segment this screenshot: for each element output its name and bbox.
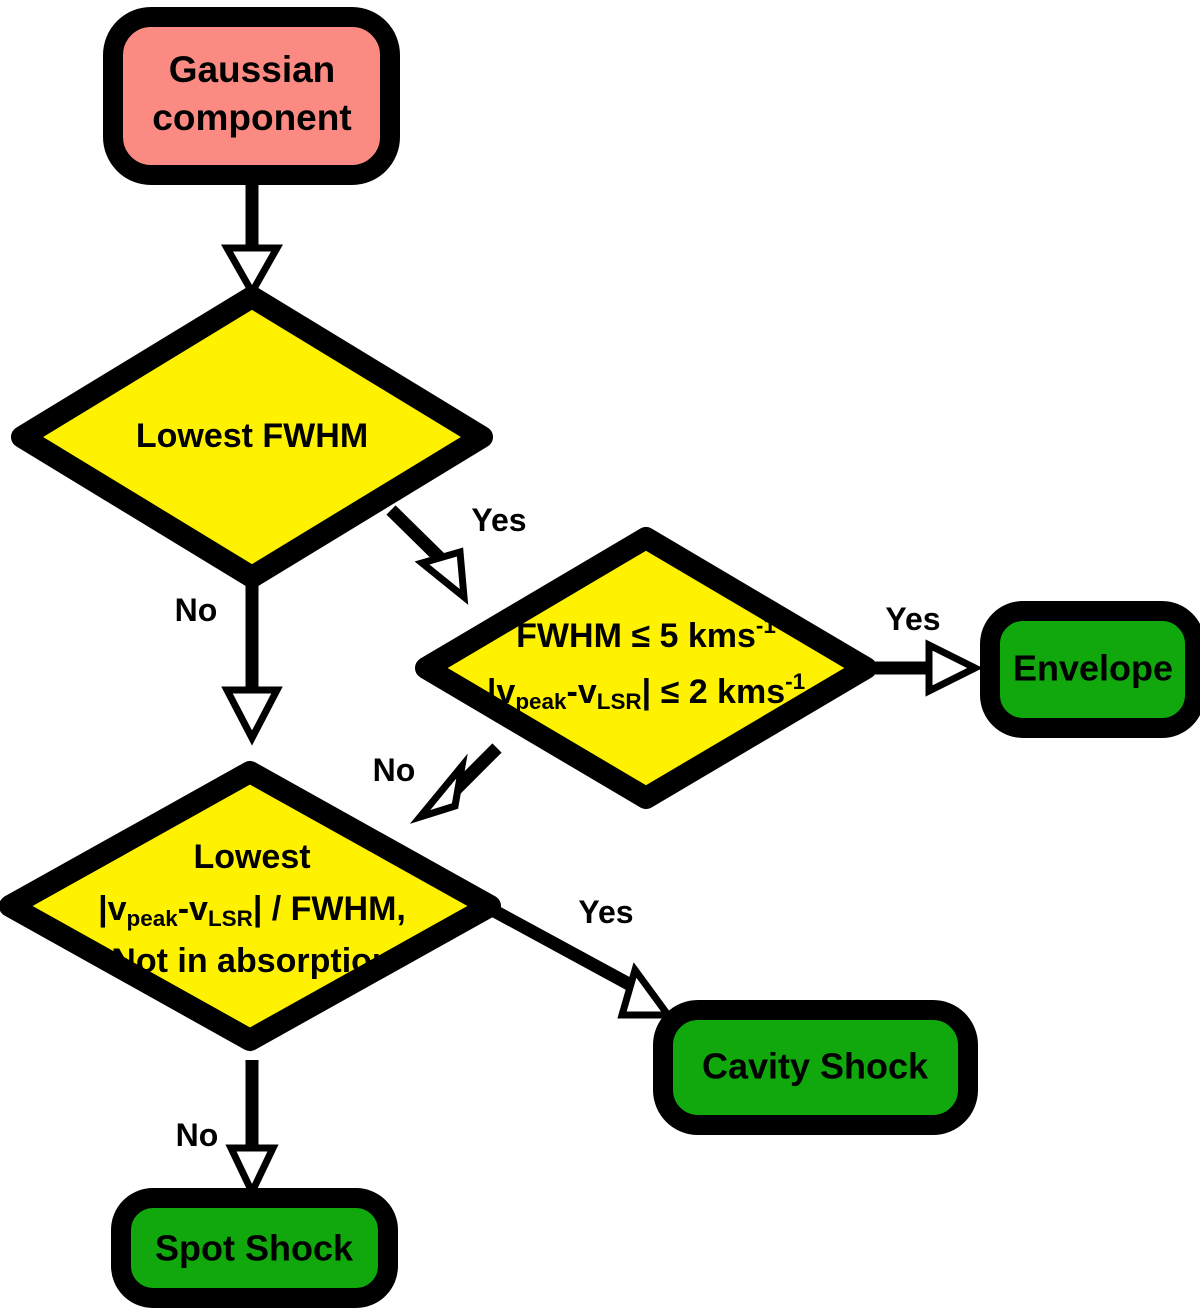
flowchart-canvas: Yes No Yes No Yes No [0, 0, 1200, 1311]
subscript-lsr: LSR [208, 906, 253, 931]
edge-lowest-fwhm-no: No [175, 578, 277, 738]
fwhm-text: FWHM [516, 617, 631, 655]
subscript-peak: peak [127, 906, 179, 931]
flowchart-svg: Yes No Yes No Yes No [0, 0, 1200, 1311]
arrowhead-down-left-icon [420, 766, 462, 817]
arrowhead-down-icon [231, 1148, 273, 1192]
node-label-spot-shock: Spot Shock [155, 1228, 354, 1269]
leq-operator: ≤ [661, 673, 680, 711]
edge-label-lowest-ratio-yes: Yes [578, 894, 633, 930]
node-envelope[interactable]: Envelope [990, 611, 1195, 728]
abs-open: |v [487, 673, 516, 711]
value-units: 2 kms [679, 673, 785, 711]
arrowhead-right-icon [929, 645, 975, 691]
edge-label-fwhm-limits-yes: Yes [885, 601, 940, 637]
node-label-lowest-ratio-line3: Not in absorption [111, 942, 392, 980]
arrowhead-down-right-icon [422, 552, 464, 597]
node-gaussian-component[interactable]: Gaussian component [113, 17, 390, 175]
edge-lowest-fwhm-yes: Yes [391, 502, 527, 597]
edge-lowest-ratio-no: No [176, 1060, 273, 1192]
arrowhead-down-icon [227, 690, 277, 738]
minus-v: -v [567, 673, 597, 711]
node-cavity-shock[interactable]: Cavity Shock [663, 1010, 968, 1125]
edge-label-lowest-fwhm-yes: Yes [471, 502, 526, 538]
node-lowest-ratio-not-absorption[interactable]: Lowest |vpeak-vLSR| / FWHM, Not in absor… [10, 772, 490, 1040]
edge-start-to-lowest-fwhm [227, 170, 277, 292]
edge-lowest-ratio-yes: Yes [487, 894, 668, 1015]
value-units: 5 kms [650, 617, 756, 655]
leq-operator: ≤ [631, 617, 650, 655]
node-label-fwhm-velocity-limits-line1: FWHM ≤ 5 kms-1 [516, 613, 776, 655]
abs-close-ratio: | / FWHM, [253, 890, 406, 928]
subscript-peak: peak [515, 689, 567, 714]
abs-open: |v [98, 890, 127, 928]
arrowhead-down-icon [227, 248, 277, 292]
edge-label-lowest-ratio-no: No [176, 1117, 219, 1153]
exponent: -1 [756, 613, 776, 638]
minus-v: -v [178, 890, 208, 928]
node-label-lowest-fwhm: Lowest FWHM [136, 417, 368, 455]
exponent: -1 [785, 669, 805, 694]
node-label-envelope: Envelope [1013, 648, 1173, 689]
node-label-gaussian-component-line2: component [152, 97, 351, 138]
subscript-lsr: LSR [597, 689, 642, 714]
node-spot-shock[interactable]: Spot Shock [121, 1198, 388, 1298]
edge-fwhm-limits-no: No [373, 748, 497, 817]
node-label-gaussian-component-line1: Gaussian [169, 49, 336, 90]
edge-fwhm-limits-yes: Yes [864, 601, 975, 691]
node-label-lowest-ratio-line1: Lowest [193, 838, 310, 876]
abs-close: | [642, 673, 661, 711]
edge-label-fwhm-limits-no: No [373, 752, 416, 788]
node-label-cavity-shock: Cavity Shock [702, 1046, 929, 1087]
edge-label-lowest-fwhm-no: No [175, 592, 218, 628]
